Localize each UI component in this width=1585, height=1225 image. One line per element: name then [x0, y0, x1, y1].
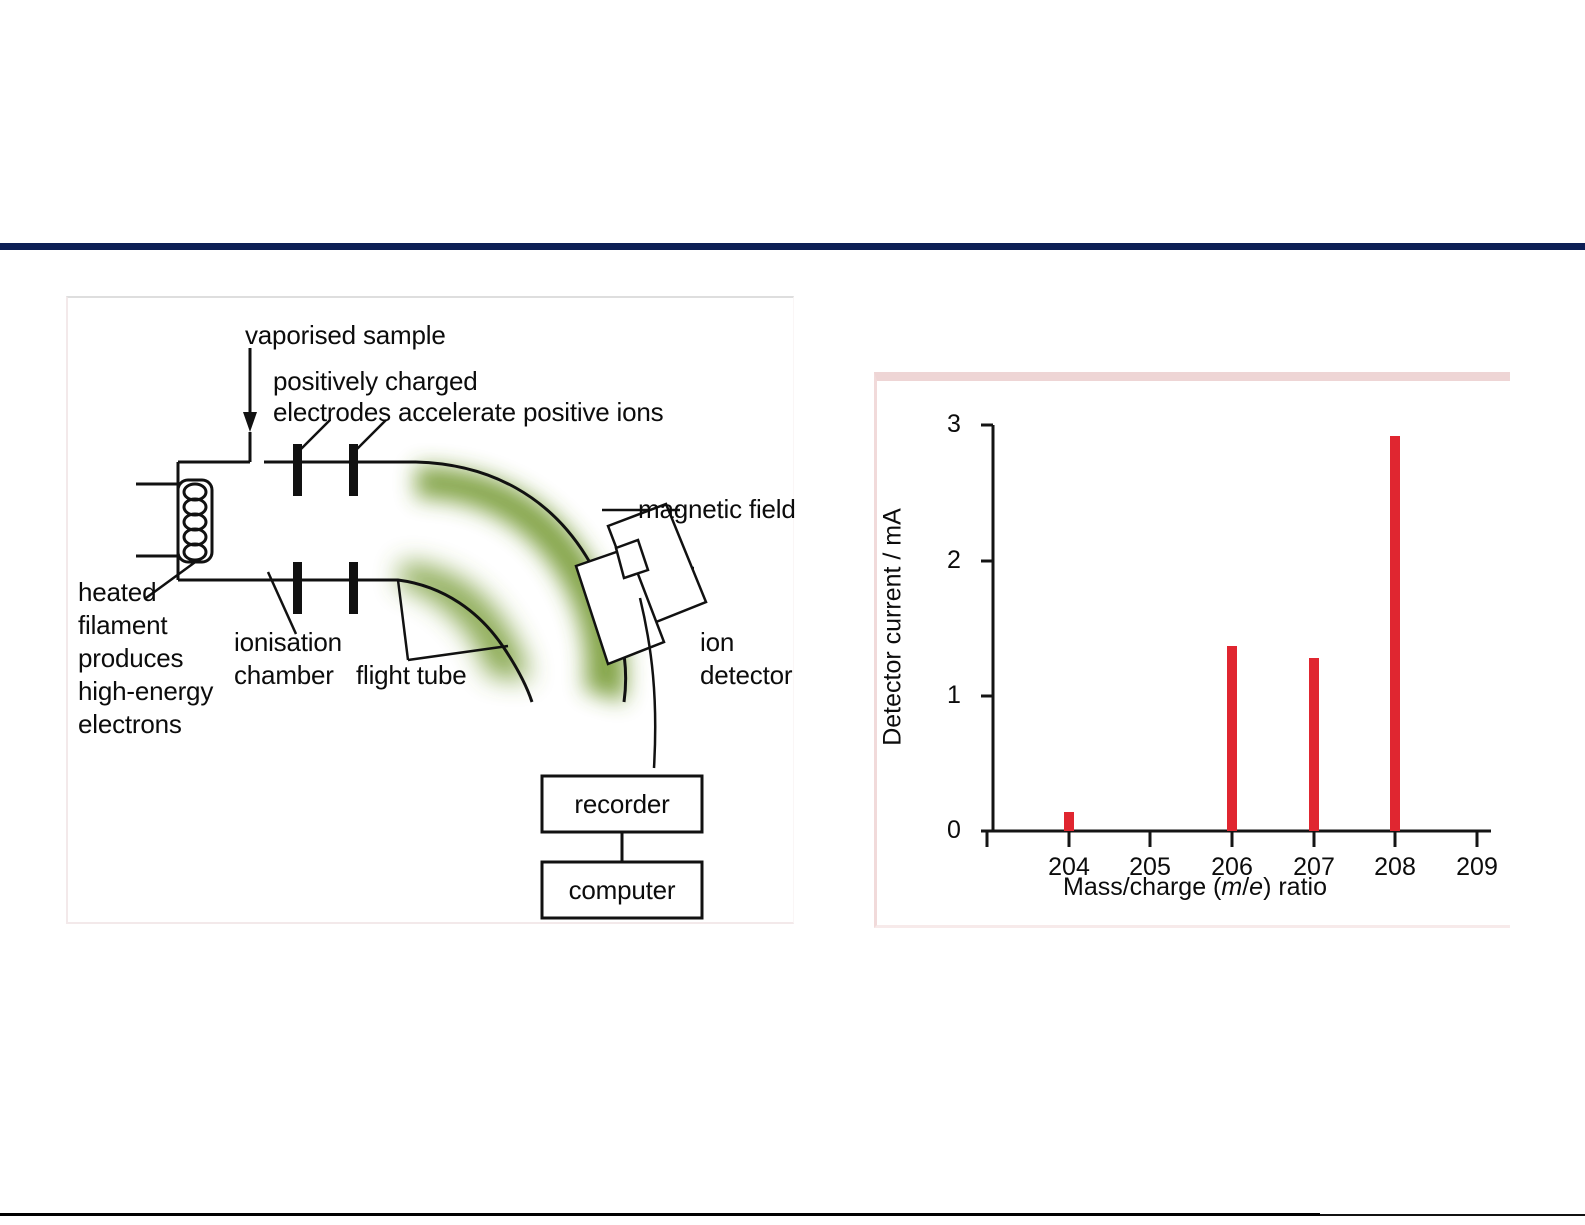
- y-tick-label-1: 1: [937, 681, 971, 710]
- mass-spectrometer-diagram-panel: vaporised sample positively charged elec…: [66, 296, 794, 924]
- label-ion-detector-line2: detector: [700, 660, 792, 690]
- label-ionisation-chamber-line1: ionisation: [234, 627, 342, 657]
- spectrum-bars: [1064, 436, 1400, 831]
- label-heated-filament-line3: produces: [78, 643, 183, 673]
- label-heated-filament-line4: high-energy: [78, 676, 213, 706]
- label-vaporised-sample: vaporised sample: [245, 320, 446, 350]
- label-positively-charged: positively charged: [273, 366, 478, 396]
- label-electrodes-accelerate: electrodes accelerate positive ions: [273, 397, 663, 427]
- x-axis-title-m: m: [1221, 873, 1242, 901]
- x-axis-title-after: ) ratio: [1263, 873, 1327, 901]
- electrode-plates: [293, 444, 358, 614]
- label-heated-filament-line1: heated: [78, 577, 156, 607]
- bar-204: [1064, 812, 1074, 831]
- x-axis-title-e: e: [1249, 873, 1263, 901]
- label-computer: computer: [542, 862, 702, 918]
- y-tick-label-2: 2: [937, 546, 971, 575]
- label-magnetic-field: magnetic field: [638, 494, 796, 524]
- x-axis-title: Mass/charge (m/e) ratio: [877, 873, 1513, 902]
- footer-rule: [0, 1213, 1320, 1216]
- heated-filament-coil: [178, 480, 212, 562]
- label-heated-filament-line5: electrons: [78, 709, 182, 739]
- label-ionisation-chamber-line2: chamber: [234, 660, 334, 690]
- header-divider-rule: [0, 243, 1585, 250]
- y-tick-label-3: 3: [937, 410, 971, 439]
- y-axis-title: Detector current / mA: [879, 508, 908, 746]
- y-axis-title-wrap: Detector current / mA: [871, 477, 915, 777]
- label-ion-detector-line1: ion: [700, 627, 734, 657]
- bar-206: [1227, 646, 1237, 831]
- x-axis-ticks: [987, 831, 1477, 847]
- mass-spectrum-chart-panel: 0 1 2 3 204 205 206 207 208 209 Detector…: [874, 372, 1510, 928]
- label-heated-filament-line2: filament: [78, 610, 167, 640]
- footer-rule-right: [1320, 1214, 1585, 1216]
- chart-axes: [987, 425, 1491, 831]
- bar-208: [1390, 436, 1400, 831]
- slide-page: vaporised sample positively charged elec…: [0, 0, 1585, 1225]
- y-tick-label-0: 0: [937, 816, 971, 845]
- bar-207: [1309, 658, 1319, 831]
- x-axis-title-before: Mass/charge (: [1063, 873, 1221, 901]
- label-recorder: recorder: [542, 776, 702, 832]
- y-axis-ticks: [981, 425, 993, 831]
- label-flight-tube: flight tube: [356, 660, 467, 690]
- vaporised-sample-arrow: [243, 348, 257, 432]
